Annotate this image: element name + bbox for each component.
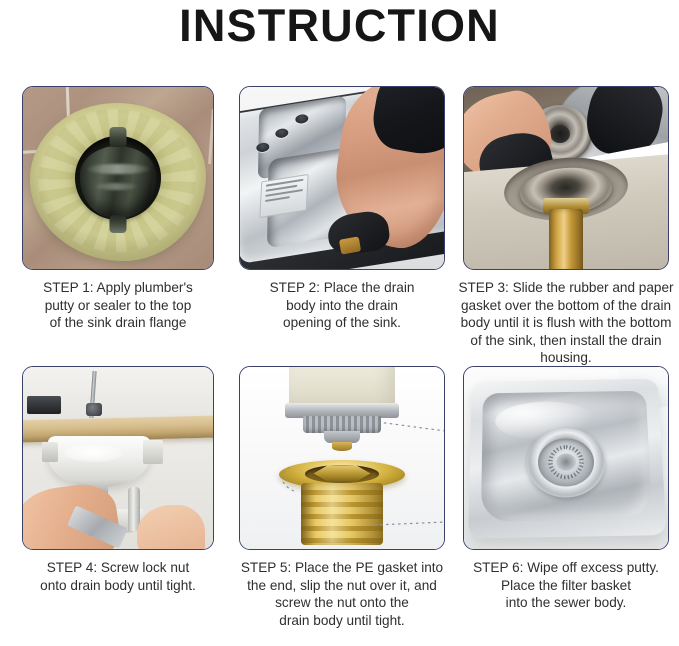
step-image-5 [239,366,445,550]
drain-lug-bottom [110,215,127,233]
illustration-pe-gasket-exploded [240,367,444,549]
page-title: INSTRUCTION [0,0,679,52]
step-image-4 [22,366,214,550]
step-caption-1: STEP 1: Apply plumber's putty or sealer … [6,279,230,332]
drain-body [80,146,156,218]
illustration-finished-sink [464,367,668,549]
mounting-clip-right [143,440,163,464]
step-image-3 [463,86,669,270]
second-hand [137,505,205,550]
illustration-gasket-install [464,87,668,269]
step-card-4: STEP 4: Screw lock nut onto drain body u… [6,366,230,646]
step-caption-4: STEP 4: Screw lock nut onto drain body u… [6,559,230,594]
drain-lug-top [110,127,127,147]
step-caption-2: STEP 2: Place the drain body into the dr… [230,279,454,332]
brass-tailpiece [549,209,583,270]
wall-marking [174,440,200,462]
steps-grid: STEP 1: Apply plumber's putty or sealer … [6,86,673,646]
step-caption-5: STEP 5: Place the PE gasket into the end… [230,559,454,629]
illustration-screw-lock-nut [23,367,213,549]
step-caption-6: STEP 6: Wipe off excess putty. Place the… [454,559,678,612]
step-card-6: STEP 6: Wipe off excess putty. Place the… [454,366,678,646]
instruction-sheet: INSTRUCTION STEP 1: Apply plumber's putt… [0,0,679,642]
callout-lines [240,367,445,550]
illustration-putty-on-flange [23,87,213,269]
illustration-place-drain-in-sink [240,87,444,269]
step-card-2: STEP 2: Place the drain body into the dr… [230,86,454,366]
strainer-holes [540,440,593,484]
step-image-2 [239,86,445,270]
callout-line-threads [374,522,445,525]
step-card-1: STEP 1: Apply plumber's putty or sealer … [6,86,230,366]
callout-line-cap [366,421,445,431]
step-image-6 [463,366,669,550]
step-card-5: STEP 5: Place the PE gasket into the end… [230,366,454,646]
callout-line-flange [282,467,294,491]
step-caption-3: STEP 3: Slide the rubber and paper gaske… [454,279,678,367]
step-card-3: STEP 3: Slide the rubber and paper gaske… [454,86,678,366]
mounting-clip-left [42,442,58,462]
step-image-1 [22,86,214,270]
